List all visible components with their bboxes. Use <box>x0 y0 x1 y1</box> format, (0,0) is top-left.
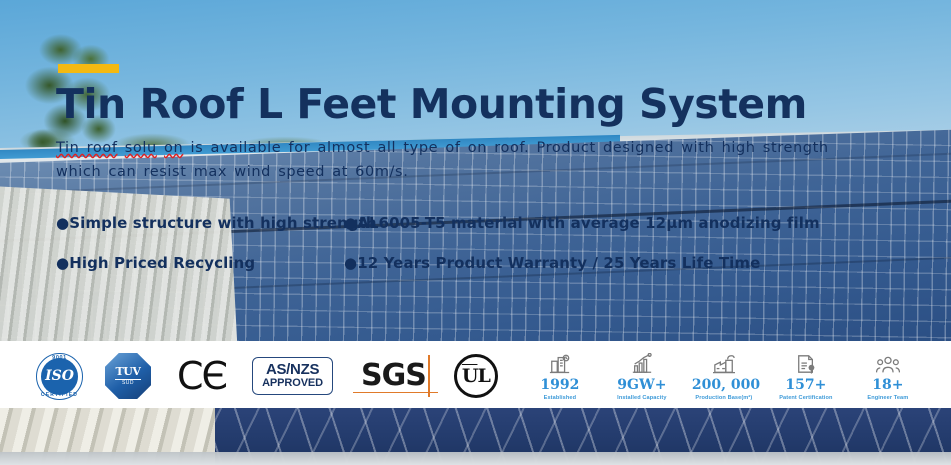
iso-certified-label: CERTIFIED <box>37 392 82 398</box>
product-banner: Tin Roof L Feet Mounting System Tin roof… <box>0 0 951 465</box>
iso-9001-label: 9001 <box>37 355 82 361</box>
product-description: Tin roof solu on is available for almost… <box>56 136 876 184</box>
ce-mark-badge: CЄ <box>173 357 230 395</box>
accent-bar <box>58 64 119 73</box>
bullet-recycling: ●High Priced Recycling <box>56 254 344 272</box>
certification-badges: 9001 ISO CERTIFIED TUV SUD CЄ AS/NZS APP… <box>0 353 498 400</box>
stat-number: 200, 000 <box>692 378 756 392</box>
ul-badge-u: U <box>462 365 478 387</box>
bullet-simple-structure: ●Simple structure with high strength <box>56 214 344 232</box>
bullet-row: ●High Priced Recycling ●12 Years Product… <box>56 254 816 272</box>
stat-label: Established <box>528 395 592 401</box>
banner-content: Tin Roof L Feet Mounting System Tin roof… <box>0 0 951 341</box>
page-title: Tin Roof L Feet Mounting System <box>56 80 807 128</box>
bar-chart-icon <box>610 351 674 375</box>
stat-number: 100+ <box>938 378 951 392</box>
asnzs-approved-label: APPROVED <box>262 378 323 390</box>
tuv-sud-sublabel: SUD <box>115 379 140 386</box>
description-misspelled-1: Tin roof <box>56 140 118 156</box>
company-stats: 1992 Established 9GW+ Installed Capacity <box>528 351 951 401</box>
description-misspelled-2: solu <box>125 140 157 156</box>
bullet-warranty: ●12 Years Product Warranty / 25 Years Li… <box>344 254 760 272</box>
feature-bullet-list: ●Simple structure with high strength ●AL… <box>56 214 816 294</box>
stat-engineer-team: 18+ Engineer Team <box>856 351 920 401</box>
ul-badge-l: L <box>477 365 489 387</box>
stat-label: Engineer Team <box>856 395 920 401</box>
bottom-edge-shade <box>0 452 951 465</box>
bullet-row: ●Simple structure with high strength ●AL… <box>56 214 816 232</box>
stat-label: Production Base(m²) <box>692 395 756 401</box>
stat-label: Patent Certification <box>774 395 838 401</box>
description-misspelled-3: on <box>164 140 183 156</box>
asnzs-label: AS/NZS <box>262 362 323 378</box>
people-group-icon <box>856 351 920 375</box>
factory-icon <box>528 351 592 375</box>
stat-patent-certification: 157+ Patent Certification <box>774 351 838 401</box>
asnzs-approved-badge: AS/NZS APPROVED <box>252 357 333 394</box>
stat-label: Installed Capacity <box>610 395 674 401</box>
bullet-material: ●AL6005-T5 material with average 12μm an… <box>344 214 820 232</box>
stat-countries: 100+ Countries <box>938 351 951 401</box>
certification-strip: 9001 ISO CERTIFIED TUV SUD CЄ AS/NZS APP… <box>0 341 951 411</box>
iso-badge-label: ISO <box>41 358 78 395</box>
sgs-badge: SGS <box>355 358 432 394</box>
ul-badge: UL <box>454 354 498 398</box>
stat-number: 18+ <box>856 378 920 392</box>
patent-doc-icon <box>774 351 838 375</box>
iso-badge: 9001 ISO CERTIFIED <box>36 353 83 400</box>
tuv-badge-label: TUV <box>115 366 140 377</box>
stat-label: Countries <box>938 395 951 401</box>
tuv-sud-badge: TUV SUD <box>105 353 151 399</box>
globe-hand-icon <box>938 351 951 375</box>
stat-established: 1992 Established <box>528 351 592 401</box>
stat-installed-capacity: 9GW+ Installed Capacity <box>610 351 674 401</box>
stat-number: 1992 <box>528 378 592 392</box>
stat-number: 157+ <box>774 378 838 392</box>
stat-number: 9GW+ <box>610 378 674 392</box>
stat-production-base: 200, 000 Production Base(m²) <box>692 351 756 401</box>
plant-icon <box>692 351 756 375</box>
